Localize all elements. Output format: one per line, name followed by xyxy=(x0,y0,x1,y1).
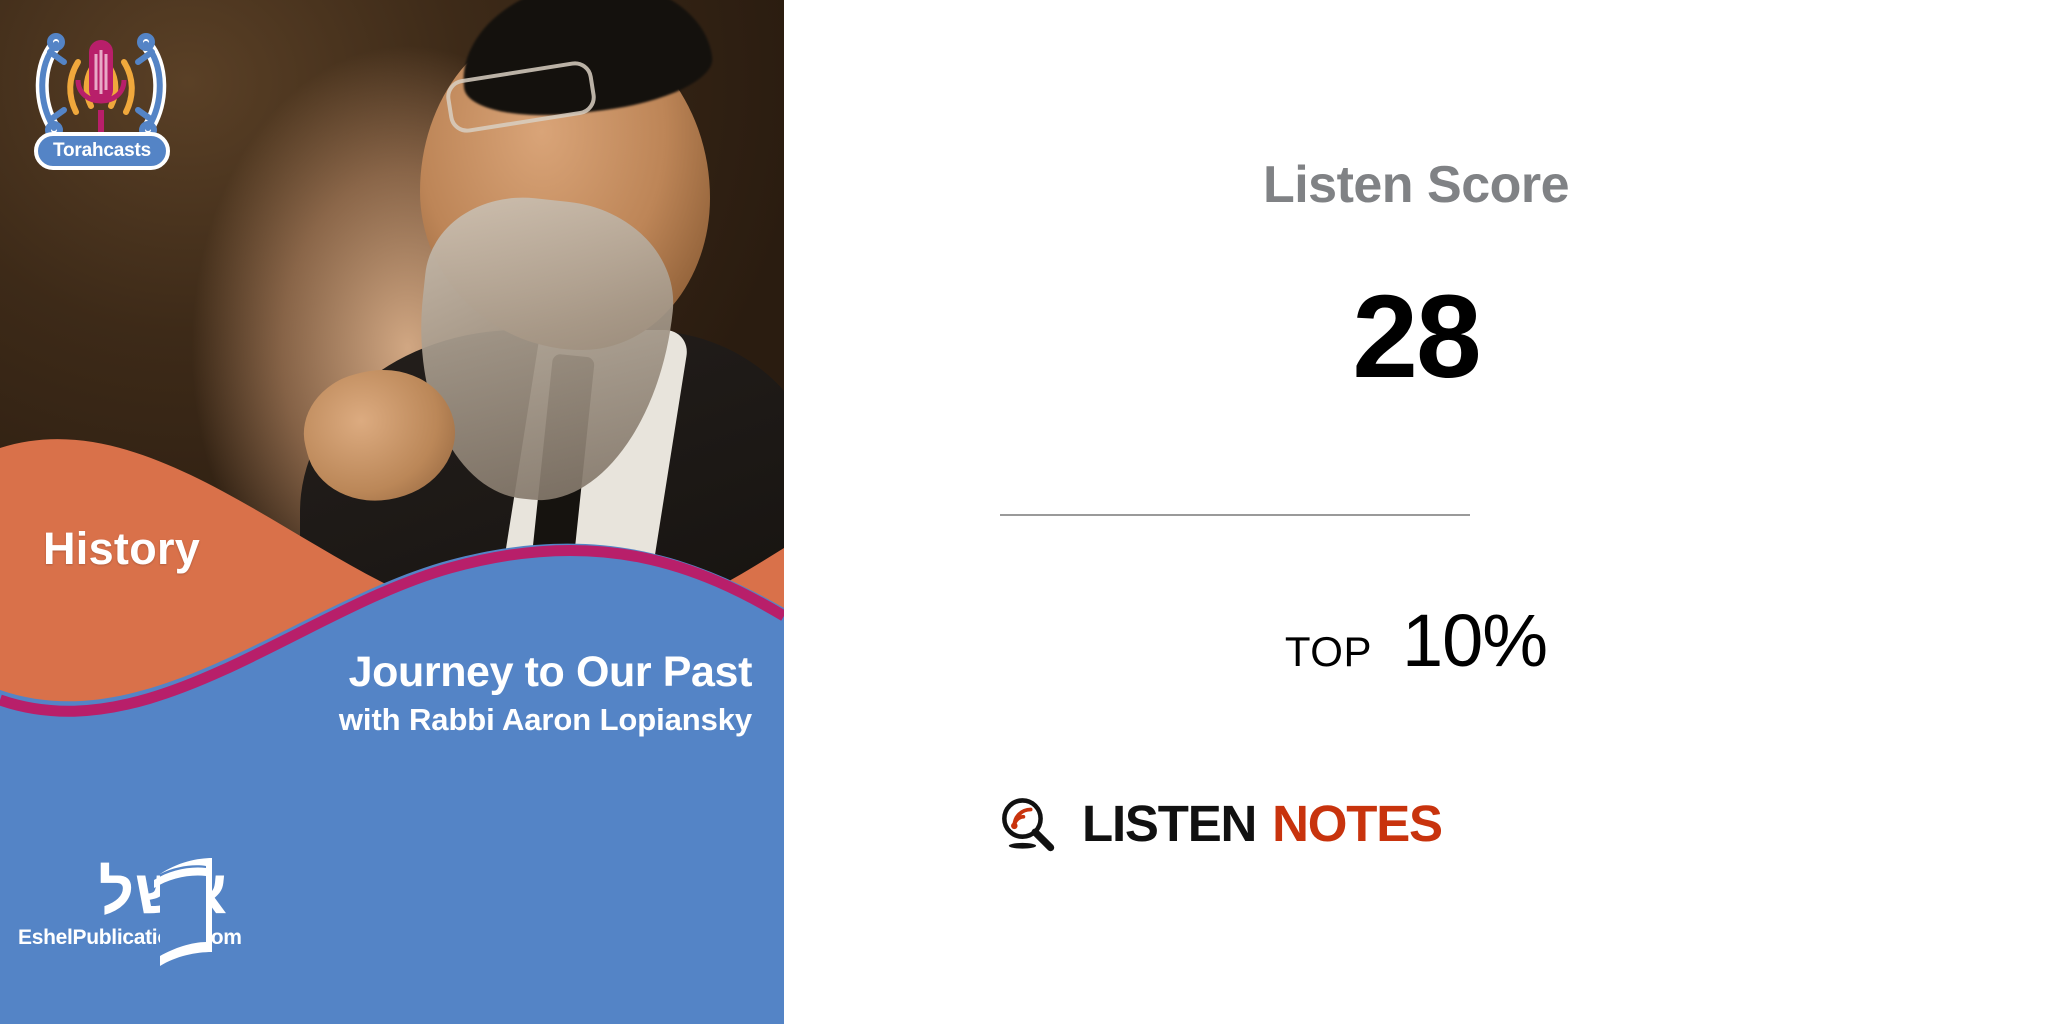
top-percentile-row: TOP 10% xyxy=(784,598,2048,683)
listen-score-panel: Listen Score 28 TOP 10% LISTEN NOTES xyxy=(784,0,2048,1024)
publisher-logo: אשל EshelPublications.com xyxy=(18,862,228,1012)
brand-word-listen: LISTEN xyxy=(1082,794,1256,853)
torahcasts-badge: Torahcasts xyxy=(34,132,170,170)
top-label: TOP xyxy=(1285,628,1372,676)
listen-score-heading: Listen Score xyxy=(784,155,2048,215)
podcast-host: with Rabbi Aaron Lopiansky xyxy=(0,702,752,738)
listen-notes-logo[interactable]: LISTEN NOTES xyxy=(998,794,1442,853)
open-book-icon xyxy=(150,856,220,966)
podcast-microphone-icon xyxy=(16,16,186,146)
magnifier-rss-icon xyxy=(998,795,1056,853)
torahcasts-logo: Torahcasts xyxy=(16,16,186,166)
divider xyxy=(1000,514,1470,516)
top-percent-value: 10% xyxy=(1402,598,1547,683)
category-label: History xyxy=(43,523,200,575)
torahcasts-badge-label: Torahcasts xyxy=(53,140,151,162)
podcast-artwork: Torahcasts History Journey to Our Past w… xyxy=(0,0,784,1024)
podcast-title-block: Journey to Our Past with Rabbi Aaron Lop… xyxy=(0,650,784,738)
listen-score-value: 28 xyxy=(784,278,2048,396)
podcast-title: Journey to Our Past xyxy=(0,650,752,696)
brand-word-notes: NOTES xyxy=(1272,794,1442,853)
listen-score-card: Torahcasts History Journey to Our Past w… xyxy=(0,0,2048,1024)
